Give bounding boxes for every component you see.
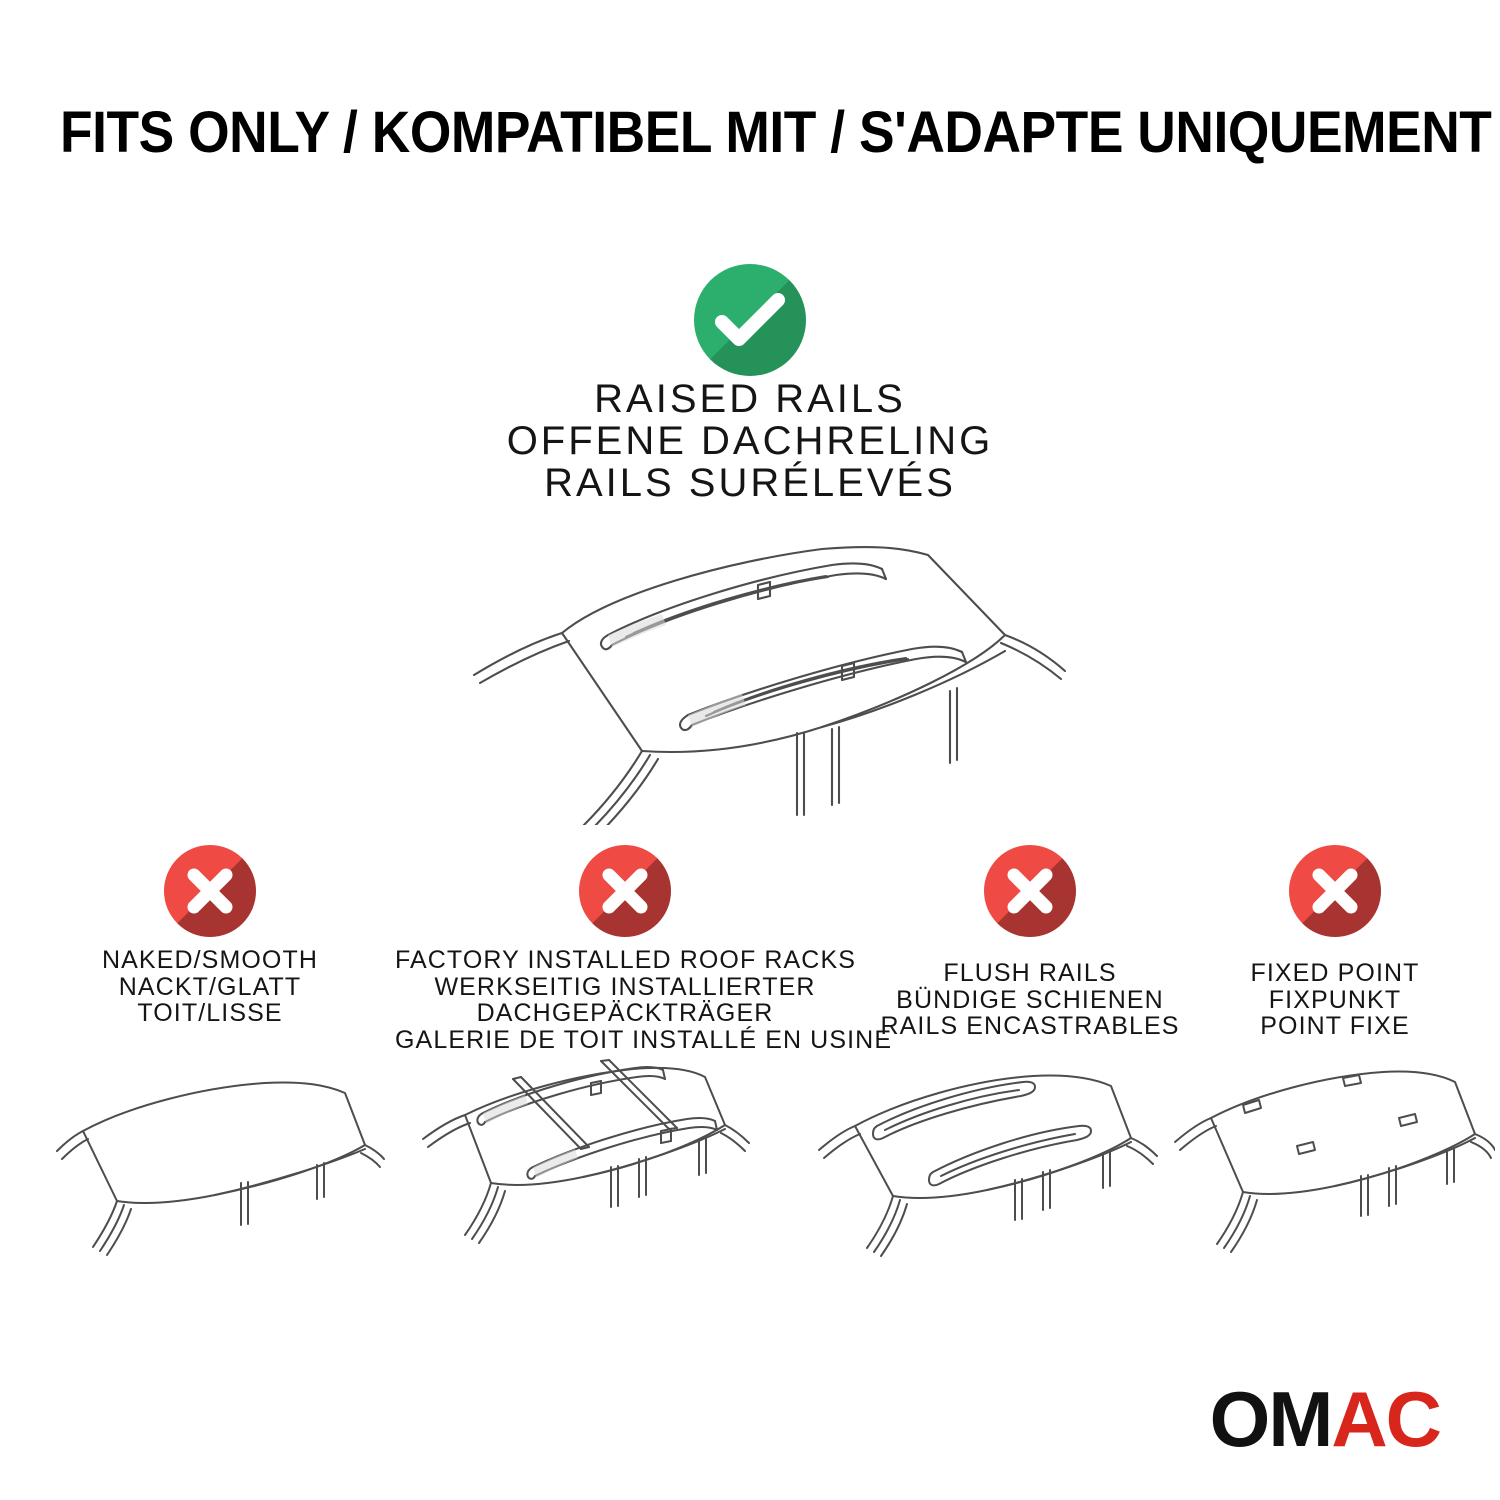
caption-line: POINT FIXE <box>1180 1013 1490 1040</box>
omac-logo: OMAC <box>1210 1380 1440 1458</box>
incompatible-caption-factory-racks: FACTORY INSTALLED ROOF RACKS WERKSEITIG … <box>395 947 855 1053</box>
logo-text-black: OM <box>1210 1375 1332 1463</box>
caption-line: FACTORY INSTALLED ROOF RACKS <box>395 947 855 974</box>
check-circle-icon <box>694 264 806 376</box>
caption-line: BÜNDIGE SCHIENEN <box>850 987 1210 1014</box>
logo-text-red: AC <box>1331 1375 1440 1463</box>
x-mark-glyph <box>1289 845 1381 937</box>
caption-line: FIXED POINT <box>1180 960 1490 987</box>
fitment-infographic: FITS ONLY / KOMPATIBEL MIT / S'ADAPTE UN… <box>0 0 1500 1500</box>
check-mark-glyph <box>694 264 806 376</box>
car-roof-flush-rails-illustration <box>815 1060 1165 1285</box>
x-mark-glyph <box>164 845 256 937</box>
incompatible-caption-naked-smooth: NAKED/SMOOTH NACKT/GLATT TOIT/LISSE <box>20 947 400 1027</box>
car-roof-factory-roof-racks-illustration <box>405 1055 755 1285</box>
car-roof-fixed-point-illustration <box>1165 1060 1495 1285</box>
incompatible-caption-flush-rails: FLUSH RAILS BÜNDIGE SCHIENEN RAILS ENCAS… <box>850 960 1210 1040</box>
x-circle-icon <box>984 845 1076 937</box>
caption-line: FIXPUNKT <box>1180 987 1490 1014</box>
caption-line: GALERIE DE TOIT INSTALLÉ EN USINE <box>395 1027 855 1054</box>
caption-line: NACKT/GLATT <box>20 974 400 1001</box>
x-circle-icon <box>164 845 256 937</box>
incompatible-caption-fixed-point: FIXED POINT FIXPUNKT POINT FIXE <box>1180 960 1490 1040</box>
x-circle-icon <box>1289 845 1381 937</box>
caption-line: WERKSEITIG INSTALLIERTER <box>395 974 855 1001</box>
caption-line: NAKED/SMOOTH <box>20 947 400 974</box>
caption-line: RAILS SURÉLEVÉS <box>0 462 1500 504</box>
caption-line: OFFENE DACHRELING <box>0 420 1500 462</box>
x-circle-icon <box>579 845 671 937</box>
car-roof-naked-smooth-illustration <box>55 1065 385 1285</box>
caption-line: DACHGEPÄCKTRÄGER <box>395 1000 855 1027</box>
caption-line: FLUSH RAILS <box>850 960 1210 987</box>
compatible-caption: RAISED RAILS OFFENE DACHRELING RAILS SUR… <box>0 378 1500 504</box>
x-mark-glyph <box>984 845 1076 937</box>
car-roof-raised-rails-illustration <box>430 515 1080 825</box>
page-title: FITS ONLY / KOMPATIBEL MIT / S'ADAPTE UN… <box>60 104 1440 162</box>
caption-line: TOIT/LISSE <box>20 1000 400 1027</box>
caption-line: RAISED RAILS <box>0 378 1500 420</box>
x-mark-glyph <box>579 845 671 937</box>
caption-line: RAILS ENCASTRABLES <box>850 1013 1210 1040</box>
